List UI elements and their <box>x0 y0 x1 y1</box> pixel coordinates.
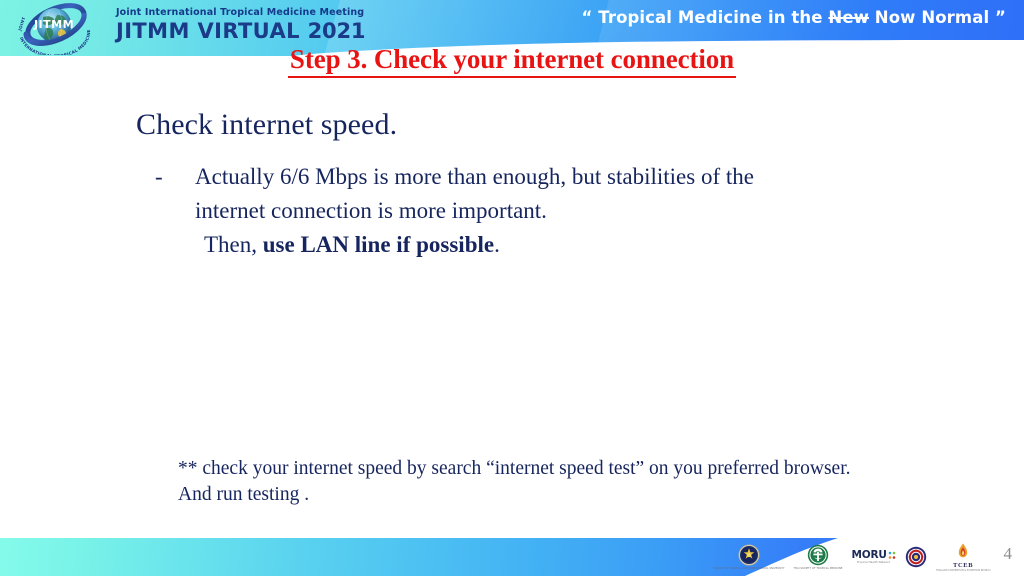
mahidol-crest-icon <box>738 544 760 566</box>
thai-health-logo-caption: THAI SOCIETY OF TROPICAL MEDICINE <box>794 567 843 570</box>
moru-logo: MORU Tropical Health Network <box>852 550 896 564</box>
circular-emblem-icon <box>905 546 927 568</box>
slide-canvas: JITMM INTERNATIONAL TROPICAL MEDICINE ME… <box>0 0 1024 576</box>
brand-subtitle: Joint International Tropical Medicine Me… <box>116 7 365 18</box>
footnote-line-2: And run testing . <box>178 482 988 508</box>
section-heading: Check internet speed. <box>136 108 397 142</box>
page-number: 4 <box>1004 544 1013 564</box>
brand-title-main: JITMM VIRTUAL <box>116 19 308 43</box>
bullet-line-3: Then, use LAN line if possible. <box>195 228 754 262</box>
brand-wordmark: Joint International Tropical Medicine Me… <box>116 7 365 43</box>
bullet-line-1: Actually 6/6 Mbps is more than enough, b… <box>195 160 754 194</box>
bullet-line-3-emphasis: use LAN line if possible <box>263 232 494 257</box>
footnote-block: ** check your internet speed by search “… <box>178 456 988 508</box>
moru-logo-caption: Tropical Health Network <box>857 561 890 564</box>
brand-title-year: 2021 <box>308 19 366 43</box>
bullet-line-3-suffix: . <box>494 232 500 257</box>
bullet-line-2: internet connection is more important. <box>195 194 754 228</box>
svg-text:JITMM: JITMM <box>33 18 74 31</box>
mahidol-university-logo: FACULTY OF TROPICAL MEDICINE MAHIDOL UNI… <box>714 544 785 570</box>
tagline-part-1: Tropical Medicine in the <box>598 8 828 27</box>
wellcome-partner-logo <box>905 546 927 569</box>
tceb-wordmark: TCEB <box>953 562 973 569</box>
moru-dots-icon <box>888 550 896 561</box>
slide-footer: FACULTY OF TROPICAL MEDICINE MAHIDOL UNI… <box>0 532 1024 576</box>
conference-tagline: “ Tropical Medicine in the New Now Norma… <box>582 8 1007 27</box>
moru-wordmark-icon: MORU <box>852 550 887 561</box>
svg-text:JOINT: JOINT <box>17 16 26 32</box>
page-title-text: Step 3. Check your internet connection <box>288 44 736 78</box>
tagline-struck-word: New <box>828 8 869 27</box>
tagline-part-2: Now Normal <box>869 8 989 27</box>
footer-logo-strip: FACULTY OF TROPICAL MEDICINE MAHIDOL UNI… <box>714 542 1012 572</box>
bullet-dash-marker: - <box>155 160 195 194</box>
mahidol-logo-caption: FACULTY OF TROPICAL MEDICINE MAHIDOL UNI… <box>714 567 785 570</box>
caduceus-shield-icon <box>807 544 829 566</box>
bullet-line-3-prefix: Then, <box>204 232 263 257</box>
list-item: - Actually 6/6 Mbps is more than enough,… <box>155 160 915 262</box>
tagline-close-quote: ” <box>989 8 1006 27</box>
tceb-logo-caption: THAILAND CONVENTION & EXHIBITION BUREAU <box>936 569 991 572</box>
tceb-logo: TCEB THAILAND CONVENTION & EXHIBITION BU… <box>936 542 991 572</box>
page-title: Step 3. Check your internet connection <box>0 44 1024 78</box>
footnote-line-1: ** check your internet speed by search “… <box>178 456 988 482</box>
tagline-open-quote: “ <box>582 8 599 27</box>
brand-title: JITMM VIRTUAL 2021 <box>116 19 365 43</box>
tceb-flame-icon <box>953 542 973 562</box>
bullet-list: - Actually 6/6 Mbps is more than enough,… <box>155 160 915 262</box>
bullet-paragraph: Actually 6/6 Mbps is more than enough, b… <box>195 160 754 262</box>
thai-health-logo: THAI SOCIETY OF TROPICAL MEDICINE <box>794 544 843 570</box>
